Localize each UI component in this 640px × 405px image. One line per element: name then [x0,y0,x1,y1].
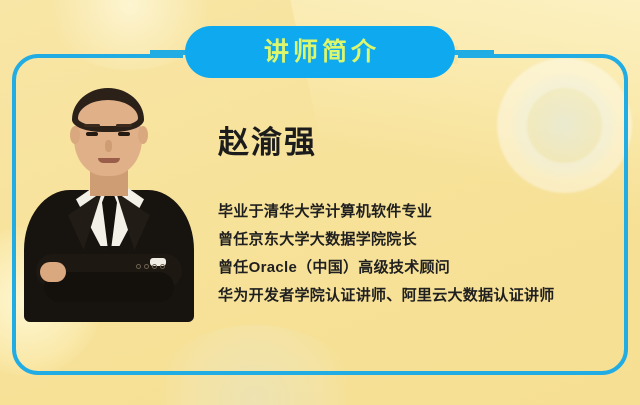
portrait-eyebrow-left [84,124,100,127]
portrait-ear-right [138,126,148,144]
section-title-text: 讲师简介 [260,40,380,65]
portrait-eye-right [118,132,130,136]
portrait-mouth [98,158,120,163]
bio-line: 毕业于清华大学计算机软件专业 [218,198,555,226]
portrait-nose [105,140,112,152]
instructor-name: 赵渝强 [218,126,317,160]
portrait-hand [40,262,66,282]
portrait-sleeve-buttons [136,264,170,269]
portrait-eyebrow-right [116,124,132,127]
portrait-eye-left [86,132,98,136]
instructor-profile-slide: 讲师简介 赵渝强 毕业于清华大学计算机软件专业 曾任京东大学大数据学院院长 曾任… [0,0,640,405]
instructor-bio-list: 毕业于清华大学计算机软件专业 曾任京东大学大数据学院院长 曾任Oracle（中国… [218,198,555,310]
bio-line: 曾任Oracle（中国）高级技术顾问 [218,254,555,282]
instructor-portrait-photo [18,86,200,322]
portrait-ear-left [70,126,80,144]
bio-line: 华为开发者学院认证讲师、阿里云大数据认证讲师 [218,282,555,310]
portrait-hair [72,88,144,132]
section-title-pill: 讲师简介 [185,26,455,78]
bio-line: 曾任京东大学大数据学院院长 [218,226,555,254]
